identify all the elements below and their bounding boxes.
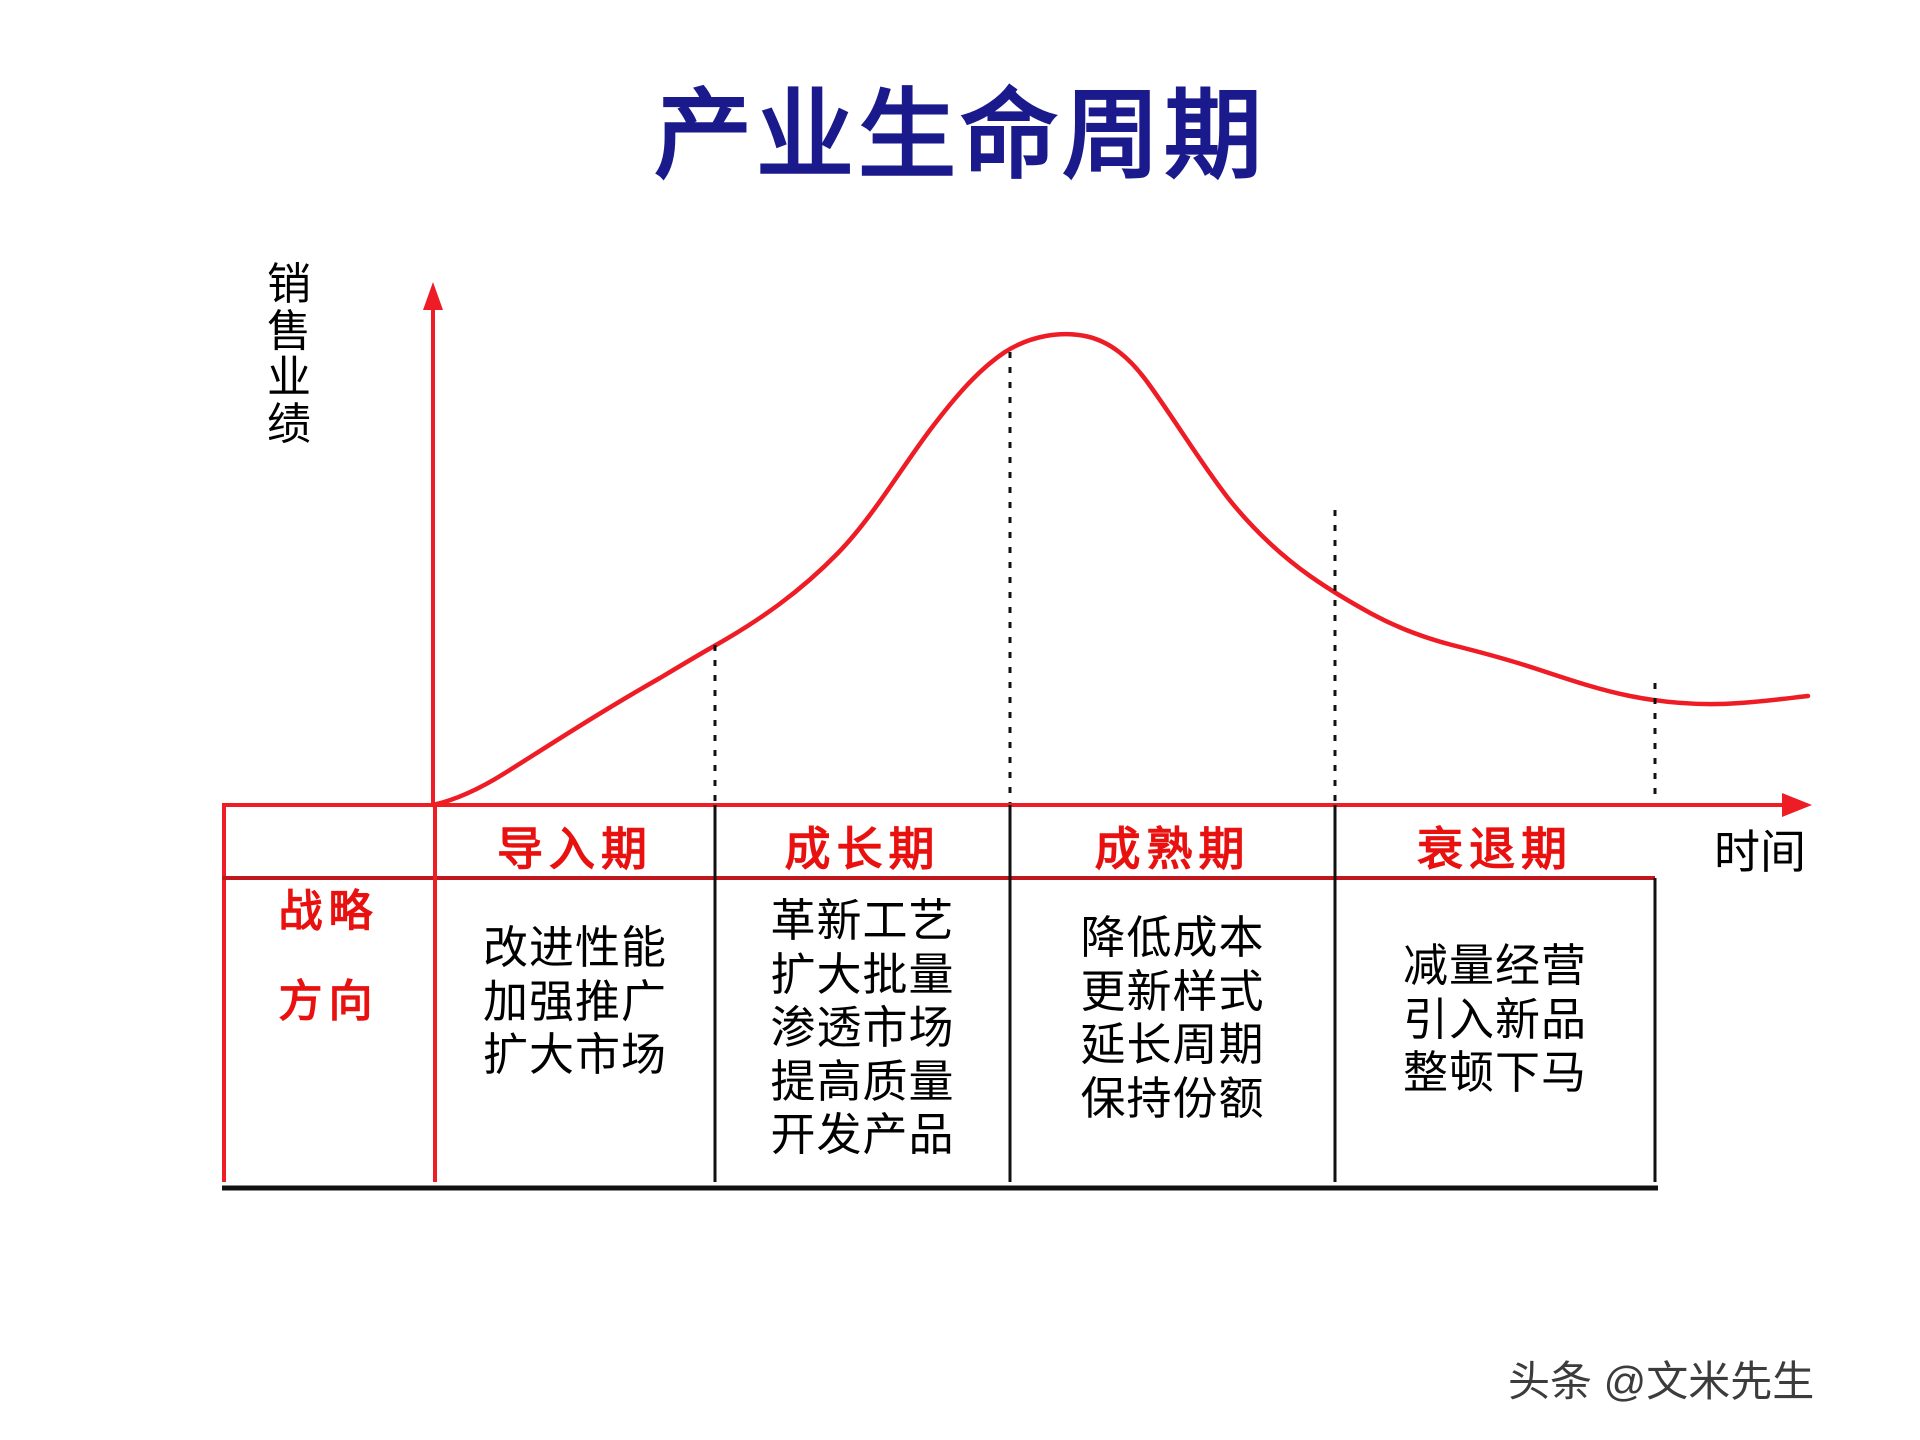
strategy-cell-maturity: 降低成本 更新样式 延长周期 保持份额 <box>1010 912 1335 1126</box>
strategy-item: 保持份额 <box>1010 1073 1335 1127</box>
strategy-item: 更新样式 <box>1010 966 1335 1020</box>
strategy-cell-growth: 革新工艺 扩大批量 渗透市场 提高质量 开发产品 <box>715 895 1010 1163</box>
strategy-item: 延长周期 <box>1010 1019 1335 1073</box>
row-label-line-1: 战略 <box>222 890 435 934</box>
slide-canvas: 产业生命周期 销 <box>0 0 1920 1440</box>
y-axis-label-char-0: 销 <box>258 262 320 309</box>
lifecycle-curve <box>433 334 1808 805</box>
strategy-cell-decline: 减量经营 引入新品 整顿下马 <box>1335 940 1655 1101</box>
strategy-item: 提高质量 <box>715 1056 1010 1110</box>
strategy-item: 扩大批量 <box>715 949 1010 1003</box>
strategy-item: 渗透市场 <box>715 1002 1010 1056</box>
strategy-item: 改进性能 <box>435 922 715 976</box>
y-axis-label-char-3: 绩 <box>258 402 320 449</box>
strategy-item: 减量经营 <box>1335 940 1655 994</box>
watermark: 头条 @文米先生 <box>1508 1348 1814 1409</box>
y-axis-label: 销 售 业 绩 <box>258 262 320 449</box>
y-axis-label-char-2: 业 <box>258 355 320 402</box>
x-axis-label: 时间 <box>1714 816 1806 882</box>
strategy-item: 扩大市场 <box>435 1029 715 1083</box>
stage-header-introduction: 导入期 <box>435 812 715 880</box>
stage-header-decline: 衰退期 <box>1335 812 1655 880</box>
chart-linework <box>0 0 1920 1440</box>
strategy-cell-introduction: 改进性能 加强推广 扩大市场 <box>435 922 715 1083</box>
strategy-item: 引入新品 <box>1335 994 1655 1048</box>
row-label-line-2: 方向 <box>222 980 435 1024</box>
stage-header-maturity: 成熟期 <box>1010 812 1335 880</box>
strategy-item: 加强推广 <box>435 976 715 1030</box>
strategy-item: 开发产品 <box>715 1109 1010 1163</box>
stage-header-growth: 成长期 <box>715 812 1010 880</box>
strategy-item: 整顿下马 <box>1335 1047 1655 1101</box>
strategy-item: 革新工艺 <box>715 895 1010 949</box>
y-axis-arrowhead <box>423 282 443 310</box>
x-axis-arrowhead <box>1782 793 1812 817</box>
strategy-item: 降低成本 <box>1010 912 1335 966</box>
row-label-strategy-direction: 战略 方向 <box>222 890 435 1024</box>
y-axis-label-char-1: 售 <box>258 309 320 356</box>
